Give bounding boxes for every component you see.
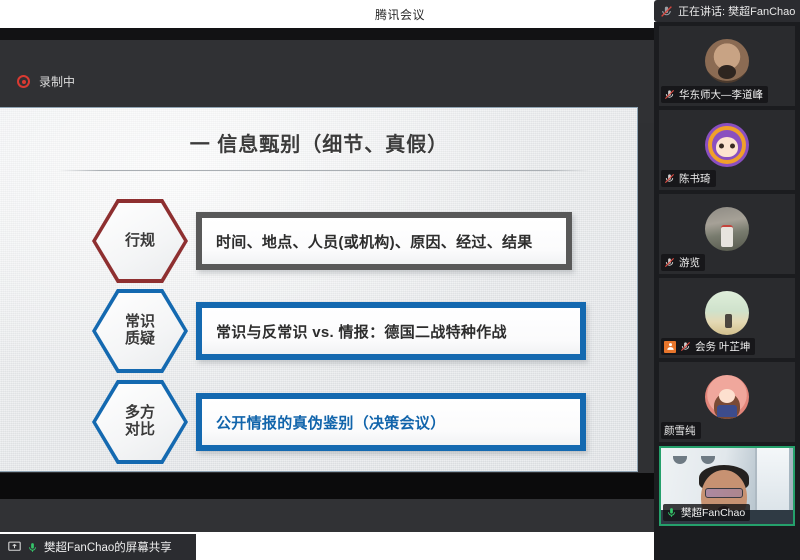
participant-name: 游览	[679, 255, 700, 270]
participant-tile[interactable]: 会务 叶芷坤	[659, 278, 795, 358]
stage-lower-area	[0, 499, 654, 532]
presentation-slide: 一 信息甄别（细节、真假） 行规 时间、地点、人员(或机构)、原因、经过、结果	[0, 107, 638, 472]
participant-tile-self[interactable]: 樊超FanChao	[659, 446, 795, 526]
slide-content-text: 公开情报的真伪鉴别（决策会议）	[216, 412, 446, 433]
participant-name: 会务 叶芷坤	[695, 339, 750, 354]
mic-muted-icon	[680, 341, 691, 352]
screen-share-icon	[8, 541, 21, 553]
window-title: 腾讯会议	[375, 6, 425, 23]
screen-share-status: 樊超FanChao的屏幕共享	[0, 534, 196, 560]
dog-avatar	[705, 39, 749, 83]
slide-content-bar: 常识与反常识 vs. 情报：德国二战特种作战	[196, 302, 586, 360]
stage-letterbox-bottom	[0, 473, 654, 499]
slide-content-bar: 公开情报的真伪鉴别（决策会议）	[196, 393, 586, 451]
participant-tile[interactable]: 陈书琦	[659, 110, 795, 190]
participant-tile[interactable]: 游览	[659, 194, 795, 274]
hexagon-label: 常识 质疑	[125, 314, 155, 348]
slide-content-text: 常识与反常识 vs. 情报：德国二战特种作战	[216, 321, 507, 342]
slide-title: 一 信息甄别（细节、真假）	[0, 128, 638, 157]
street-avatar	[705, 207, 749, 251]
slide-content-bar: 时间、地点、人员(或机构)、原因、经过、结果	[196, 212, 572, 270]
participant-name-chip: 华东师大—李道峰	[661, 86, 768, 103]
hexagon-badge: 多方 对比	[92, 380, 188, 464]
participant-name-chip: 樊超FanChao	[663, 504, 750, 521]
active-speaker-indicator: 正在讲话: 樊超FanChao	[654, 0, 800, 22]
girl-avatar	[705, 123, 749, 167]
hexagon-badge: 常识 质疑	[92, 289, 188, 373]
participant-name: 颜雪纯	[664, 423, 696, 438]
participant-name-chip: 游览	[661, 254, 705, 271]
hexagon-label: 多方 对比	[125, 405, 155, 439]
scene-avatar	[705, 291, 749, 335]
mic-on-icon	[27, 541, 38, 554]
participant-name-chip: 陈书琦	[661, 170, 716, 187]
participant-name: 樊超FanChao	[681, 505, 745, 520]
hexagon-label: 行规	[125, 233, 155, 250]
meeting-window: 腾讯会议 正在讲话: 樊超FanChao 录制中 一 信息甄别（细节、真假）	[0, 0, 800, 560]
slide-content-text: 时间、地点、人员(或机构)、原因、经过、结果	[216, 231, 533, 252]
mic-muted-icon	[664, 89, 675, 100]
mic-muted-icon	[660, 5, 673, 18]
record-dot-icon	[17, 75, 30, 88]
participant-name: 陈书琦	[679, 171, 711, 186]
participant-tile[interactable]: 颜雪纯	[659, 362, 795, 442]
stage-letterbox-top	[0, 28, 654, 40]
participant-name-chip: 颜雪纯	[661, 422, 701, 439]
participant-rail[interactable]: 华东师大—李道峰 陈书琦	[654, 22, 800, 560]
screen-share-label: 樊超FanChao的屏幕共享	[44, 539, 172, 555]
mic-muted-icon	[664, 257, 675, 268]
slide-row: 常识 质疑 常识与反常识 vs. 情报：德国二战特种作战	[0, 288, 638, 374]
anime-avatar	[705, 375, 749, 419]
mic-muted-icon	[664, 173, 675, 184]
mic-on-icon	[666, 507, 677, 518]
slide-row: 多方 对比 公开情报的真伪鉴别（决策会议）	[0, 379, 638, 465]
hexagon-badge: 行规	[92, 199, 188, 283]
slide-row: 行规 时间、地点、人员(或机构)、原因、经过、结果	[0, 198, 638, 284]
participant-name-chip: 会务 叶芷坤	[661, 338, 755, 355]
shared-screen-stage[interactable]: 录制中 一 信息甄别（细节、真假） 行规 时间、地点	[0, 28, 654, 532]
participant-name: 华东师大—李道峰	[679, 87, 763, 102]
participant-tile[interactable]: 华东师大—李道峰	[659, 26, 795, 106]
recording-label: 录制中	[39, 73, 75, 90]
slide-title-rule	[58, 170, 590, 171]
active-speaker-label: 正在讲话: 樊超FanChao	[678, 3, 795, 19]
host-badge-icon	[664, 341, 676, 353]
